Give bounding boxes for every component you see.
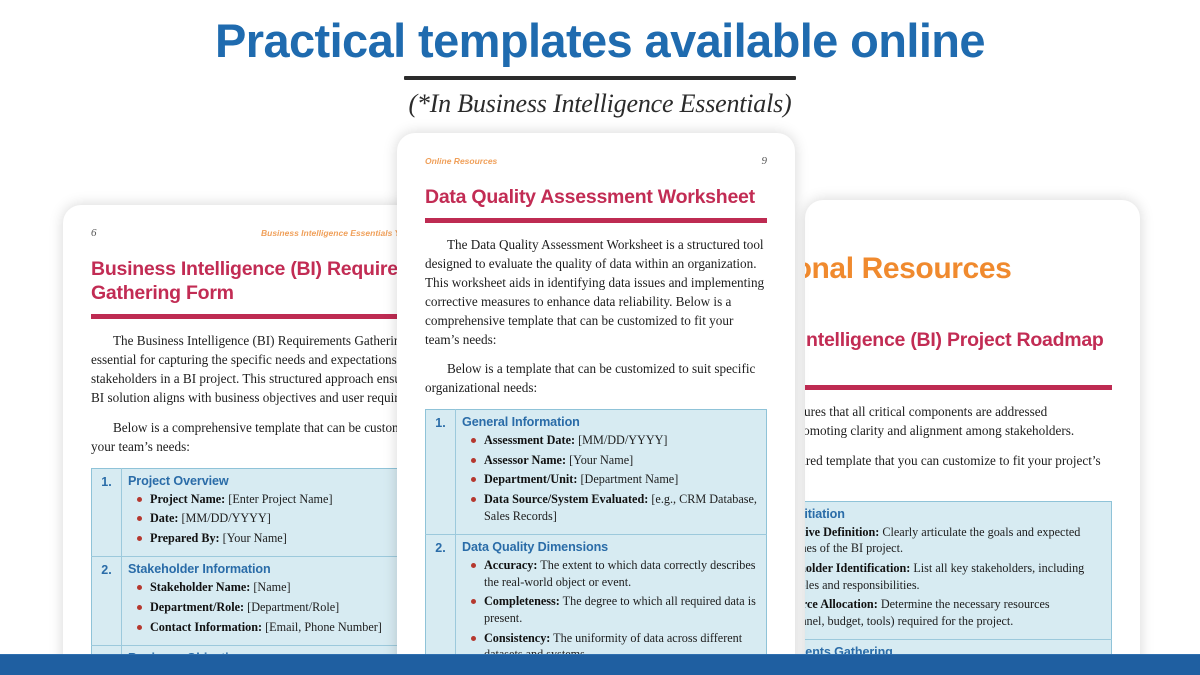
section-rule-right [805,385,1112,390]
page-center-content: Online Resources 9 Data Quality Assessme… [397,133,795,675]
list-item-label: Data Source/System Evaluated: [484,492,648,506]
list-item: Data Source/System Evaluated: [e.g., CRM… [484,491,760,524]
list-item-label: Stakeholder Identification: [805,561,910,575]
table-row: 1.General InformationAssessment Date: [M… [426,410,767,535]
list-item-label: Stakeholder Name: [150,580,250,594]
list-item-label: Department/Unit: [484,472,577,486]
list-item: Accuracy: The extent to which data corre… [484,557,760,590]
section-rule-center [425,218,767,223]
list-item-label: Resource Allocation: [805,597,878,611]
list-item-label: Consistency: [484,631,550,645]
chapter-title-right: Additional Resources [805,252,1112,286]
table-group-title: General Information [462,415,760,429]
paragraph: This template ensures that all critical … [805,403,1112,441]
bullet-list: Assessment Date: [MM/DD/YYYY]Assessor Na… [462,432,760,524]
list-item-label: Prepared By: [150,531,220,545]
table-row-content: General InformationAssessment Date: [MM/… [456,410,767,535]
table-group-title: Project Initiation [805,507,1105,521]
page-center-running-head: Online Resources 9 [425,155,767,171]
bullet-list: Objective Definition: Clearly articulate… [805,524,1105,630]
list-item: Department/Unit: [Department Name] [484,471,760,488]
page-number-center: 9 [762,155,768,167]
paragraph: Below is a template that can be customiz… [425,360,767,398]
list-item: Assessor Name: [Your Name] [484,452,760,469]
list-item: Resource Allocation: Determine the neces… [805,596,1105,629]
title-underline-rule [404,76,796,80]
list-item-label: Completeness: [484,594,560,608]
table-group-title: Data Quality Dimensions [462,540,760,554]
list-item-label: Contact Information: [150,620,262,634]
paragraph: The Data Quality Assessment Worksheet is… [425,236,767,349]
page-right-running-head [805,222,1112,238]
list-item-label: Assessment Date: [484,433,575,447]
list-item: Objective Definition: Clearly articulate… [805,524,1105,557]
list-item-label: Department/Role: [150,600,244,614]
running-header-center: Online Resources [425,156,497,166]
table-row-number: 1. [92,468,122,557]
list-item-label: Date: [150,511,178,525]
list-item-label: Objective Definition: [805,525,879,539]
list-item-label: Assessor Name: [484,453,566,467]
page-title: Practical templates available online [0,16,1200,66]
slide-canvas: Practical templates available online (*I… [0,0,1200,675]
list-item-label: Project Name: [150,492,225,506]
table-row: 1.Project InitiationObjective Definition… [805,501,1112,640]
slide-title-block: Practical templates available online (*I… [0,16,1200,119]
table-row-content: Project InitiationObjective Definition: … [805,501,1112,640]
list-item: Stakeholder Identification: List all key… [805,560,1105,593]
table-row-number: 1. [426,410,456,535]
slide-subtitle: (*In Business Intelligence Essentials) [0,89,1200,119]
paragraph: Below is a structured template that you … [805,452,1112,490]
section-heading-center: Data Quality Assessment Worksheet [425,185,767,209]
bottom-accent-band [0,655,1200,675]
list-item-label: Accuracy: [484,558,537,572]
section-heading-right: Business Intelligence (BI) Project Roadm… [805,328,1112,376]
page-right-content: Additional Resources Business Intelligen… [805,200,1140,675]
list-item: Assessment Date: [MM/DD/YYYY] [484,432,760,449]
page-number-left: 6 [91,227,97,239]
document-page-center[interactable]: Online Resources 9 Data Quality Assessme… [397,133,795,675]
table-row-number: 2. [92,557,122,646]
list-item: Completeness: The degree to which all re… [484,593,760,626]
template-table-center: 1.General InformationAssessment Date: [M… [425,409,767,675]
document-page-right[interactable]: Additional Resources Business Intelligen… [805,200,1140,675]
template-table-right: 1.Project InitiationObjective Definition… [805,501,1112,675]
